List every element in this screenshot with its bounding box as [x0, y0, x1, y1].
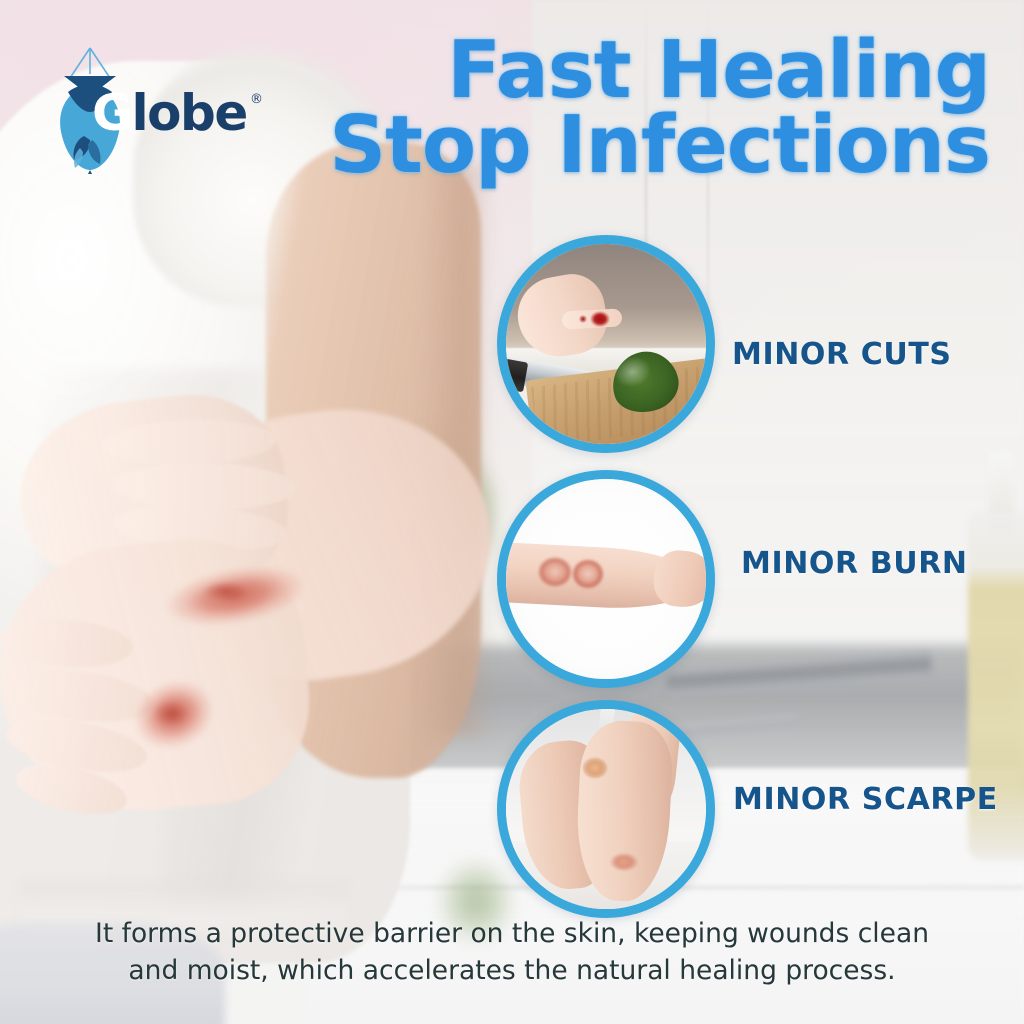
- registered-trademark-icon: ®: [250, 92, 263, 107]
- callout-image-minor-scrape[interactable]: [497, 700, 715, 918]
- callout-label-minor-cuts: MINOR CUTS: [732, 337, 952, 372]
- scrape-mark: [610, 853, 638, 871]
- description-caption: It forms a protective barrier on the ski…: [0, 915, 1024, 990]
- callout-label-minor-burn: MINOR BURN: [741, 546, 968, 581]
- callout-label-minor-scrape: MINOR SCARPE: [733, 782, 998, 817]
- callout-image-minor-burn[interactable]: [497, 470, 715, 688]
- page-title: Fast Healing Stop Infections: [290, 34, 990, 183]
- burn-mark: [572, 559, 604, 589]
- blister-mark: [582, 757, 608, 779]
- blistered-heels-photo: [506, 709, 706, 909]
- brand-wordmark-rest: lobe: [132, 84, 247, 142]
- burned-forearm-photo: [506, 479, 706, 679]
- caption-line-1: It forms a protective barrier on the ski…: [0, 915, 1024, 953]
- blood-drop-icon: [578, 314, 588, 324]
- skin-wound-detail: [148, 696, 194, 731]
- brand-logo[interactable]: Globe ®: [54, 44, 244, 174]
- cut-finger-photo: [506, 244, 706, 444]
- brand-wordmark-initial: G: [92, 84, 132, 142]
- callout-image-minor-cuts[interactable]: [497, 235, 715, 453]
- brand-wordmark: Globe: [92, 88, 247, 138]
- headline-line-1: Fast Healing: [290, 34, 990, 107]
- fist: [651, 548, 715, 610]
- headline-line-2: Stop Infections: [290, 109, 990, 182]
- burn-mark: [538, 557, 572, 587]
- blood-drop-icon: [590, 311, 610, 327]
- skin-wound-detail: [195, 578, 256, 605]
- ad-creative: Globe ® Fast Healing Stop Infections MIN…: [0, 0, 1024, 1024]
- caption-line-2: and moist, which accelerates the natural…: [0, 952, 1024, 990]
